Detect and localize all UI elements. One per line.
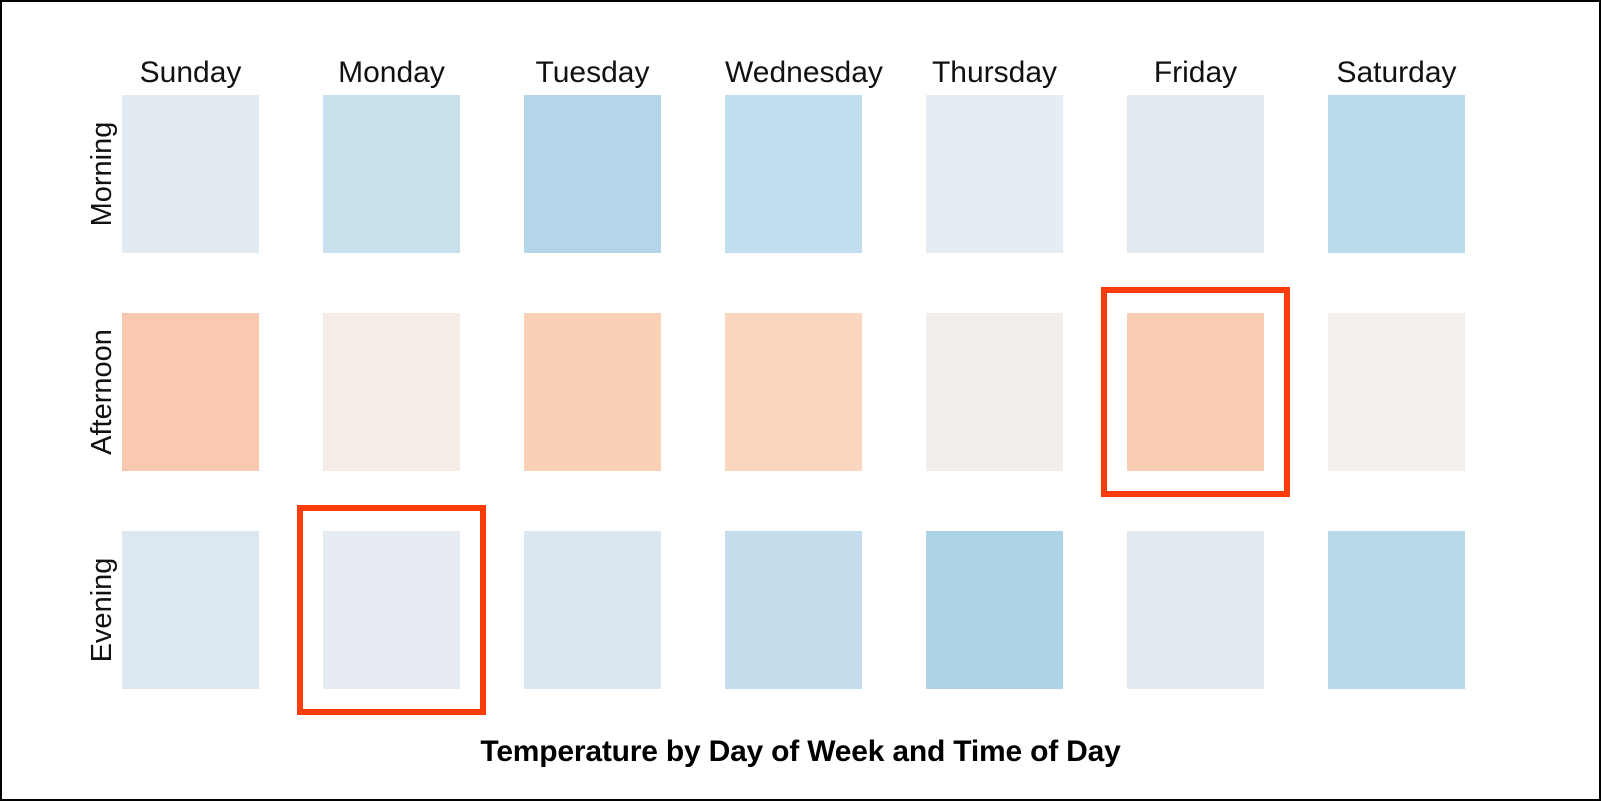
heatmap-cell-saturday-morning[interactable] (1328, 95, 1465, 253)
heatmap-cell-saturday-evening[interactable] (1328, 531, 1465, 689)
heatmap-cell-monday-evening[interactable] (323, 531, 460, 689)
heatmap-cell-saturday-afternoon[interactable] (1328, 313, 1465, 471)
heatmap-cell-friday-morning[interactable] (1127, 95, 1264, 253)
heatmap-cell-wednesday-morning[interactable] (725, 95, 862, 253)
heatmap-cell-monday-afternoon[interactable] (323, 313, 460, 471)
heatmap-cell-tuesday-afternoon[interactable] (524, 313, 661, 471)
heatmap-chart-canvas: SundayMondayTuesdayWednesdayThursdayFrid… (0, 0, 1601, 801)
row-label-evening: Evening (85, 531, 119, 689)
chart-title: Temperature by Day of Week and Time of D… (2, 735, 1599, 769)
column-header-friday: Friday (1127, 58, 1264, 88)
heatmap-cell-monday-morning[interactable] (323, 95, 460, 253)
heatmap-cell-wednesday-evening[interactable] (725, 531, 862, 689)
heatmap-cell-thursday-afternoon[interactable] (926, 313, 1063, 471)
column-header-sunday: Sunday (122, 58, 259, 88)
column-header-saturday: Saturday (1328, 58, 1465, 88)
heatmap-cell-thursday-evening[interactable] (926, 531, 1063, 689)
heatmap-cell-sunday-morning[interactable] (122, 95, 259, 253)
row-label-morning: Morning (85, 95, 119, 253)
column-header-thursday: Thursday (926, 58, 1063, 88)
heatmap-cell-wednesday-afternoon[interactable] (725, 313, 862, 471)
heatmap-cell-friday-afternoon[interactable] (1127, 313, 1264, 471)
row-label-afternoon: Afternoon (85, 313, 119, 471)
heatmap-cell-tuesday-evening[interactable] (524, 531, 661, 689)
column-header-tuesday: Tuesday (524, 58, 661, 88)
heatmap-cell-sunday-evening[interactable] (122, 531, 259, 689)
heatmap-cell-sunday-afternoon[interactable] (122, 313, 259, 471)
column-header-wednesday: Wednesday (725, 58, 862, 88)
heatmap-cell-tuesday-morning[interactable] (524, 95, 661, 253)
heatmap-cell-thursday-morning[interactable] (926, 95, 1063, 253)
heatmap-cell-friday-evening[interactable] (1127, 531, 1264, 689)
column-header-monday: Monday (323, 58, 460, 88)
